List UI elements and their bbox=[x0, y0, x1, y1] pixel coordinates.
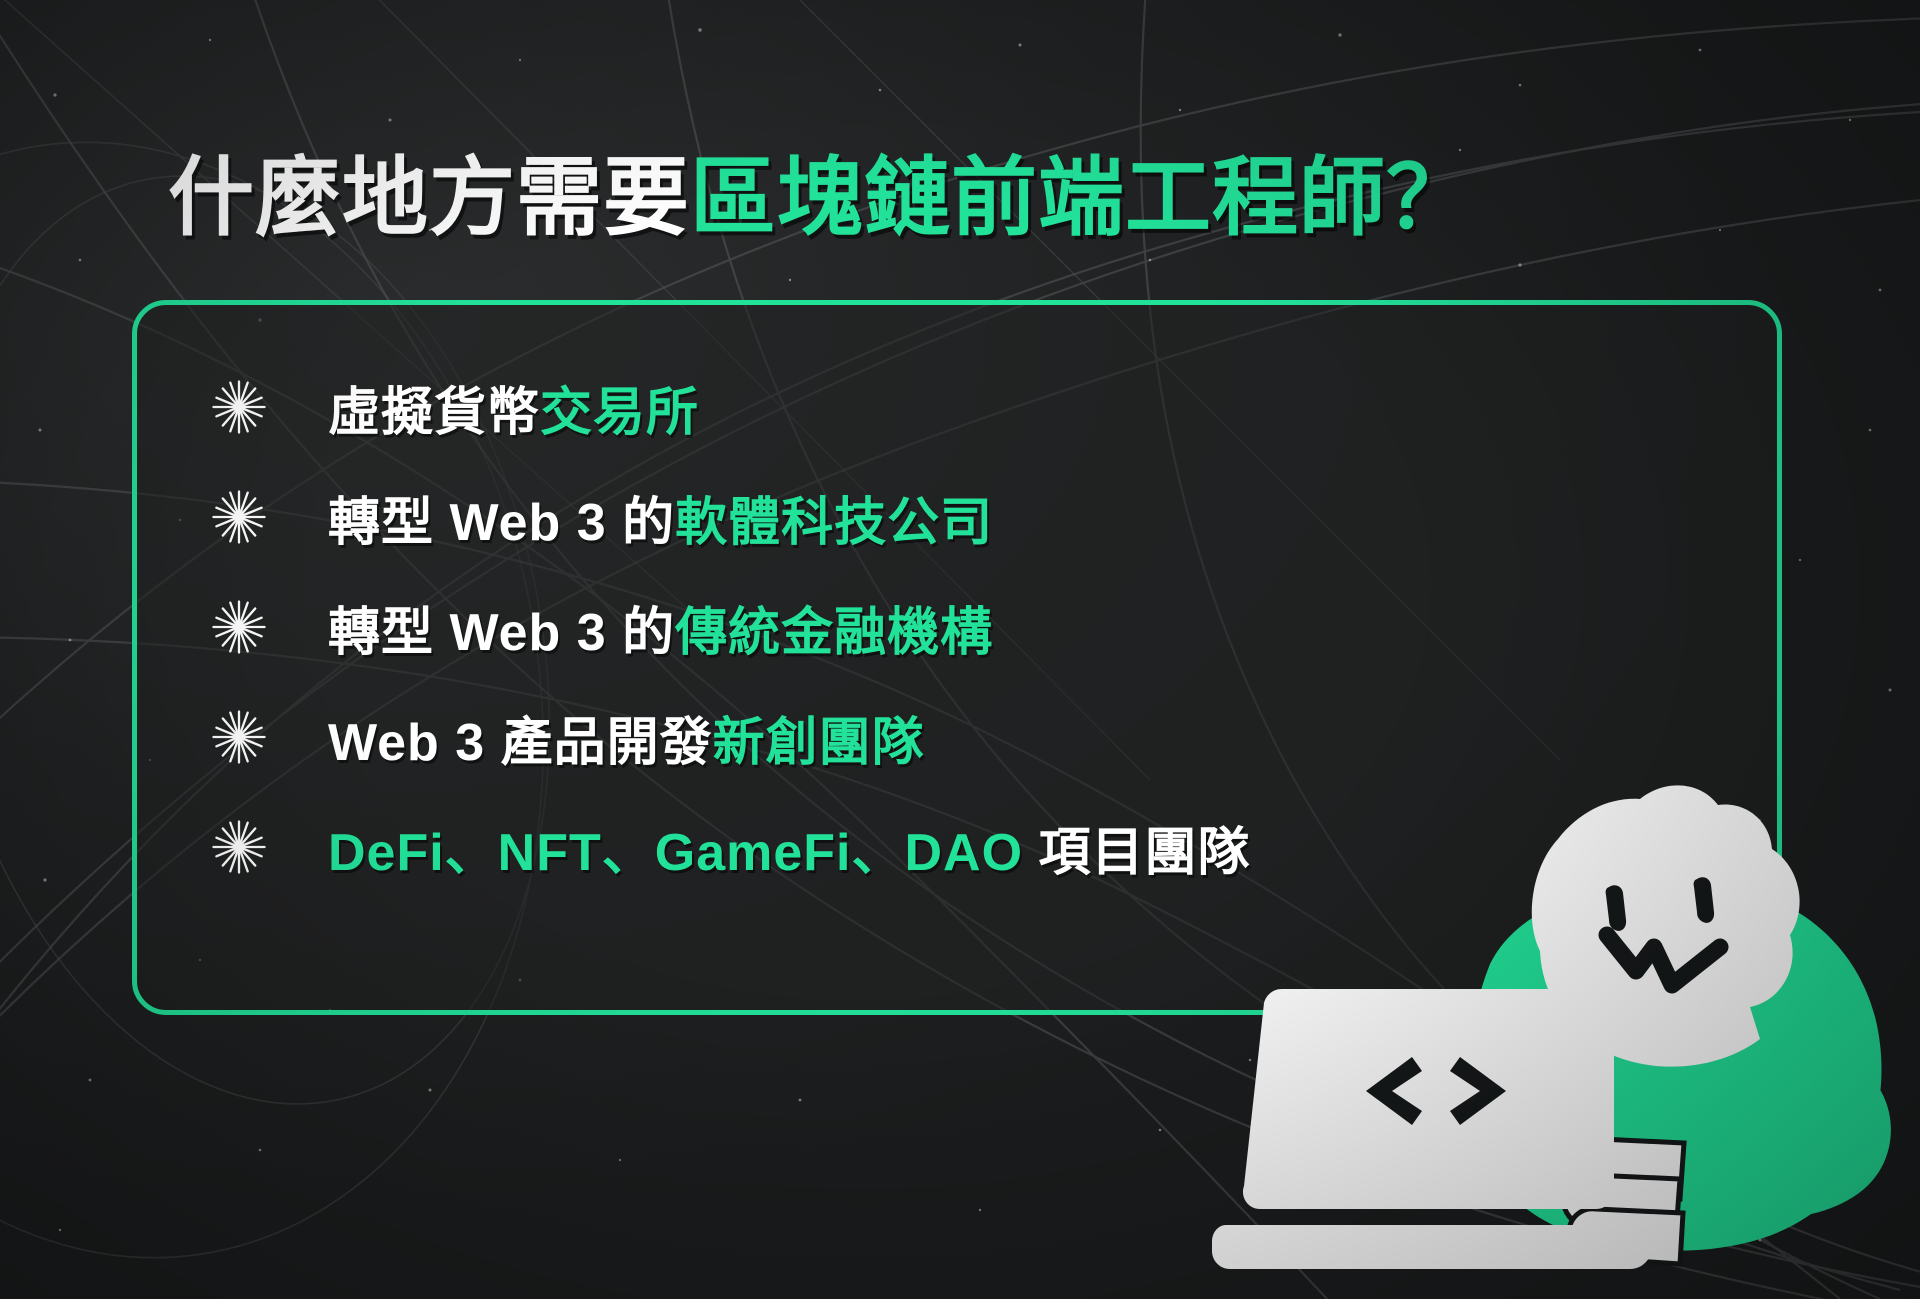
list-item-text-white-before: 虛擬貨幣 bbox=[328, 384, 540, 442]
list-item-text-white-before: Web 3 產品開發 bbox=[328, 714, 713, 772]
sunburst-icon bbox=[210, 378, 268, 436]
page-title: 什麼地方需要區塊鏈前端工程師？ bbox=[168, 154, 1473, 243]
list-item-text: 虛擬貨幣交易所 bbox=[328, 370, 699, 445]
laptop bbox=[1212, 989, 1652, 1269]
list-item: 轉型 Web 3 的軟體科技公司 bbox=[210, 462, 1610, 572]
sunburst-icon bbox=[210, 488, 268, 546]
list-item-text-green: DeFi、NFT、GameFi、DAO bbox=[328, 824, 1023, 882]
list-item-text: 轉型 Web 3 的軟體科技公司 bbox=[328, 480, 993, 555]
list-item-text-green: 交易所 bbox=[540, 384, 699, 442]
developer-with-laptop-illustration bbox=[1160, 739, 1920, 1299]
page-title-white: 什麼地方需要 bbox=[168, 150, 690, 246]
list-item-text-green: 新創團隊 bbox=[713, 714, 925, 772]
list-item: 虛擬貨幣交易所 bbox=[210, 352, 1610, 462]
list-item-text-white-before: 轉型 Web 3 的 bbox=[328, 494, 675, 552]
list-item-text: 轉型 Web 3 的傳統金融機構 bbox=[328, 590, 993, 665]
list-item-text: DeFi、NFT、GameFi、DAO 項目團隊 bbox=[328, 810, 1251, 885]
list-item-text-green: 傳統金融機構 bbox=[675, 604, 993, 662]
sunburst-icon bbox=[210, 708, 268, 766]
slide-canvas: 什麼地方需要區塊鏈前端工程師？ 虛擬貨幣交易所 bbox=[0, 0, 1920, 1299]
list-item-text-white-before: 轉型 Web 3 的 bbox=[328, 604, 675, 662]
sunburst-icon bbox=[210, 598, 268, 656]
list-item-text: Web 3 產品開發新創團隊 bbox=[328, 700, 925, 775]
list-item: 轉型 Web 3 的傳統金融機構 bbox=[210, 572, 1610, 682]
list-item-text-green: 軟體科技公司 bbox=[675, 494, 993, 552]
sunburst-icon bbox=[210, 818, 268, 876]
page-title-green: 區塊鏈前端工程師？ bbox=[690, 150, 1473, 246]
